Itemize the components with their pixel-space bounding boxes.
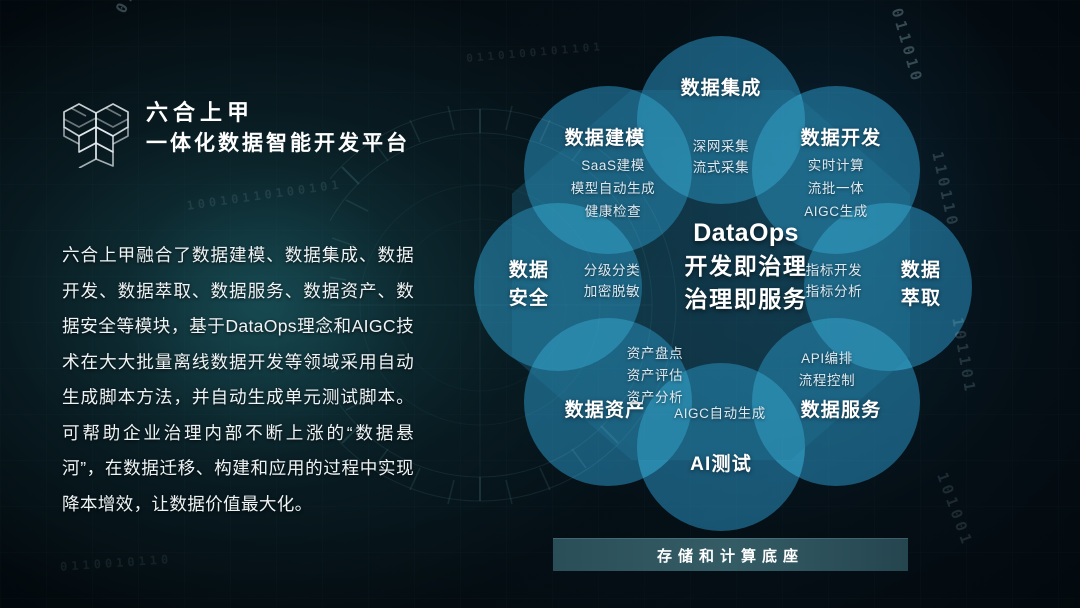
- subitem-service-2: 流程控制: [774, 370, 880, 391]
- subitem-service-1: API编排: [774, 348, 880, 369]
- description-paragraph: 六合上甲融合了数据建模、数据集成、数据开发、数据萃取、数据服务、数据资产、数据安…: [62, 238, 414, 522]
- subitem-modeling-3: 健康检查: [550, 201, 676, 222]
- subitem-development-2: 流批一体: [778, 178, 894, 199]
- label-data-extraction-line-2: 萃取: [876, 286, 966, 312]
- subitem-integration-2: 流式采集: [668, 157, 774, 178]
- brand-name: 六合上甲: [146, 98, 410, 128]
- binary-decoration-2: 10010: [208, 0, 249, 3]
- binary-decoration-1: 011100110: [112, 0, 181, 16]
- subitem-extraction-1: 指标开发: [782, 260, 886, 281]
- label-data-development: 数据开发: [772, 126, 910, 152]
- label-data-modeling: 数据建模: [536, 126, 674, 152]
- label-data-integration: 数据集成: [652, 76, 790, 102]
- label-data-extraction-line-1: 数据: [876, 258, 966, 284]
- label-ai-testing: AI测试: [652, 452, 790, 478]
- dataops-venn-diagram: DataOps 开发即治理 治理即服务 数据集成 数据建模 数据开发 数据 安全…: [452, 18, 1012, 526]
- subitem-security-2: 加密脱敏: [560, 281, 664, 302]
- slide-canvas: 011100110 10010 011010 110110 101101 100…: [0, 0, 1080, 608]
- binary-decoration-6: 10010110100101: [186, 177, 344, 213]
- subitem-asset-1: 资产盘点: [602, 343, 708, 364]
- subitem-development-3: AIGC生成: [778, 201, 894, 222]
- subitem-modeling-1: SaaS建模: [550, 155, 676, 176]
- subitem-modeling-2: 模型自动生成: [550, 178, 676, 199]
- brand-tagline: 一体化数据智能开发平台: [146, 128, 410, 160]
- binary-decoration-8: 0110010110: [60, 552, 173, 574]
- subitem-integration-1: 深网采集: [668, 136, 774, 157]
- brand-block: 六合上甲 一体化数据智能开发平台: [60, 94, 440, 170]
- subitem-asset-2: 资产评估: [602, 365, 708, 386]
- base-bar-label: 存储和计算底座: [657, 545, 804, 566]
- subitem-development-1: 实时计算: [778, 155, 894, 176]
- subitem-testing-1: AIGC自动生成: [650, 403, 790, 424]
- storage-compute-base-bar: 存储和计算底座: [553, 538, 908, 571]
- subitem-security-1: 分级分类: [560, 260, 664, 281]
- label-data-service: 数据服务: [772, 398, 910, 424]
- subitem-extraction-2: 指标分析: [782, 281, 886, 302]
- brand-text: 六合上甲 一体化数据智能开发平台: [146, 98, 410, 160]
- brick-wall-logo-icon: [60, 96, 132, 168]
